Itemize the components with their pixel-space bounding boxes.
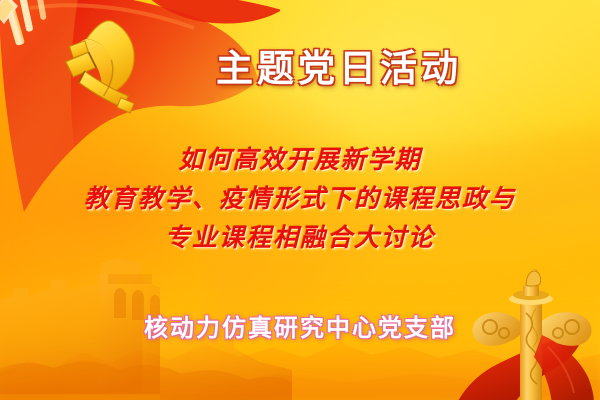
- party-day-activity-poster: 主题党日活动 如何高效开展新学期 教育教学、疫情形式下的课程思政与 专业课程相融…: [0, 0, 600, 400]
- poster-title: 主题党日活动: [0, 38, 600, 92]
- subtitle-line-2: 教育教学、疫情形式下的课程思政与: [0, 179, 600, 218]
- organization-name: 核动力仿真研究中心党支部: [0, 308, 600, 343]
- poster-subtitle-block: 如何高效开展新学期 教育教学、疫情形式下的课程思政与 专业课程相融合大讨论: [0, 140, 600, 257]
- poster-text-layer: 主题党日活动 如何高效开展新学期 教育教学、疫情形式下的课程思政与 专业课程相融…: [0, 0, 600, 400]
- subtitle-line-3: 专业课程相融合大讨论: [0, 218, 600, 257]
- subtitle-line-1: 如何高效开展新学期: [0, 140, 600, 179]
